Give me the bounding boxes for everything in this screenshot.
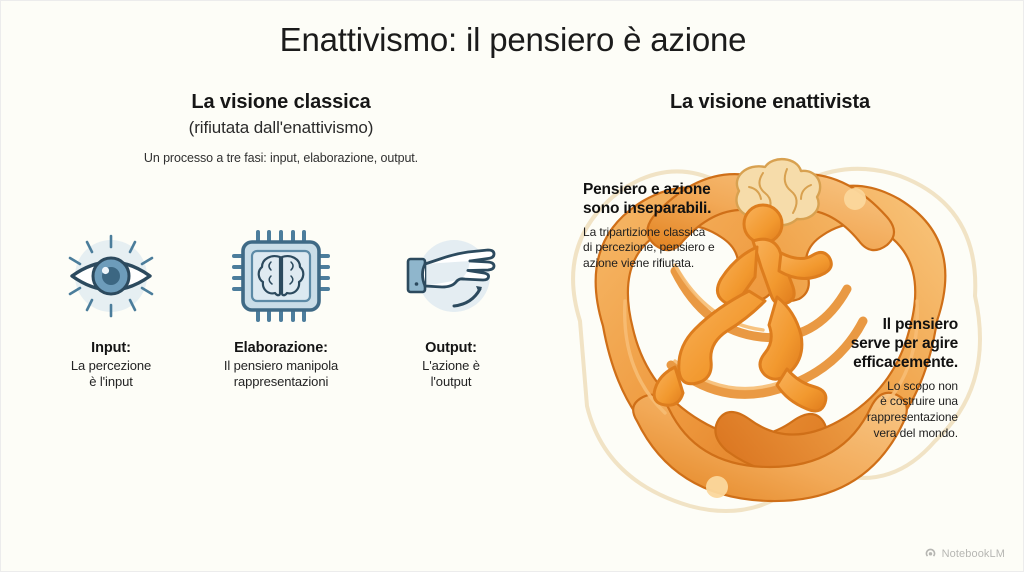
stage-output-description: L'azione è l'output bbox=[422, 358, 480, 391]
enactive-block-1-title: Pensiero e azione sono inseparabili. bbox=[583, 181, 758, 219]
stage-elaborazione-description: Il pensiero manipola rappresentazioni bbox=[224, 358, 338, 391]
enactive-block-2-body: Lo scopo non è costruire una rappresenta… bbox=[808, 379, 958, 441]
hand-action-icon bbox=[396, 226, 506, 326]
stage-elaborazione-label: Elaborazione: bbox=[234, 340, 328, 356]
classic-stage-row: Input: La percezione è l'input bbox=[31, 226, 531, 391]
notebooklm-icon bbox=[924, 547, 937, 560]
cpu-brain-chip-icon bbox=[226, 226, 336, 326]
classic-view-heading: La visione classica bbox=[31, 91, 531, 114]
classic-view-subheading: (rifiutata dall'enattivismo) bbox=[31, 118, 531, 138]
enactive-view-panel: La visione enattivista bbox=[525, 91, 1015, 551]
classic-view-panel: La visione classica (rifiutata dall'enat… bbox=[31, 91, 531, 531]
watermark-label: NotebookLM bbox=[942, 548, 1005, 560]
stage-input: Input: La percezione è l'input bbox=[31, 226, 191, 391]
enactive-illustration: Pensiero e azione sono inseparabili. La … bbox=[525, 121, 1015, 546]
stage-input-description: La percezione è l'input bbox=[71, 358, 151, 391]
enactive-view-heading: La visione enattivista bbox=[525, 91, 1015, 114]
enactive-block-1-body: La tripartizione classica di percezione,… bbox=[583, 225, 758, 272]
enactive-block-agire: Il pensiero serve per agire efficacement… bbox=[808, 316, 958, 441]
stage-elaborazione: Elaborazione: Il pensiero manipola rappr… bbox=[201, 226, 361, 391]
stage-output-label: Output: bbox=[425, 340, 477, 356]
stage-input-label: Input: bbox=[91, 340, 131, 356]
page-title: Enattivismo: il pensiero è azione bbox=[1, 21, 1024, 59]
enactive-block-inseparabili: Pensiero e azione sono inseparabili. La … bbox=[583, 181, 758, 272]
watermark: NotebookLM bbox=[924, 547, 1005, 560]
enactive-block-2-title: Il pensiero serve per agire efficacement… bbox=[808, 316, 958, 373]
infographic-canvas: Enattivismo: il pensiero è azione La vis… bbox=[0, 0, 1024, 572]
classic-view-caption: Un processo a tre fasi: input, elaborazi… bbox=[31, 151, 531, 165]
stage-output: Output: L'azione è l'output bbox=[371, 226, 531, 391]
eye-icon bbox=[56, 226, 166, 326]
